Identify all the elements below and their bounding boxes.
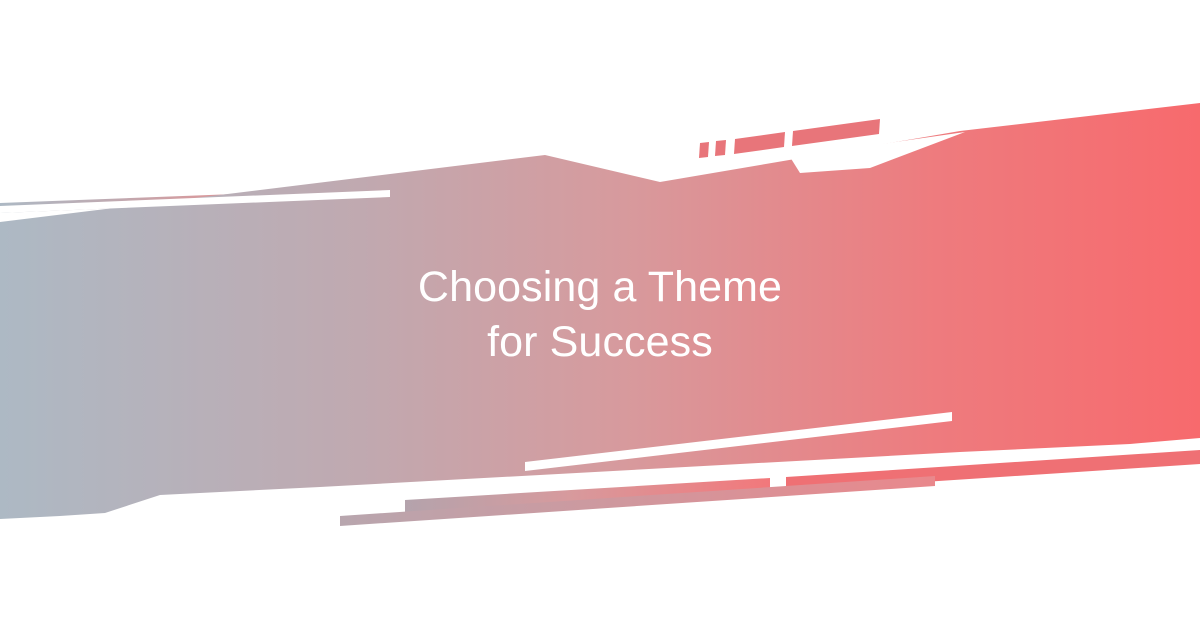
dash-accent-3 [734,132,785,154]
promo-banner: Choosing a Theme for Success [0,0,1200,630]
dash-accent-4 [792,119,880,146]
dash-accent-1 [699,142,709,158]
dash-accent-2 [715,140,726,156]
banner-background-graphic [0,0,1200,630]
